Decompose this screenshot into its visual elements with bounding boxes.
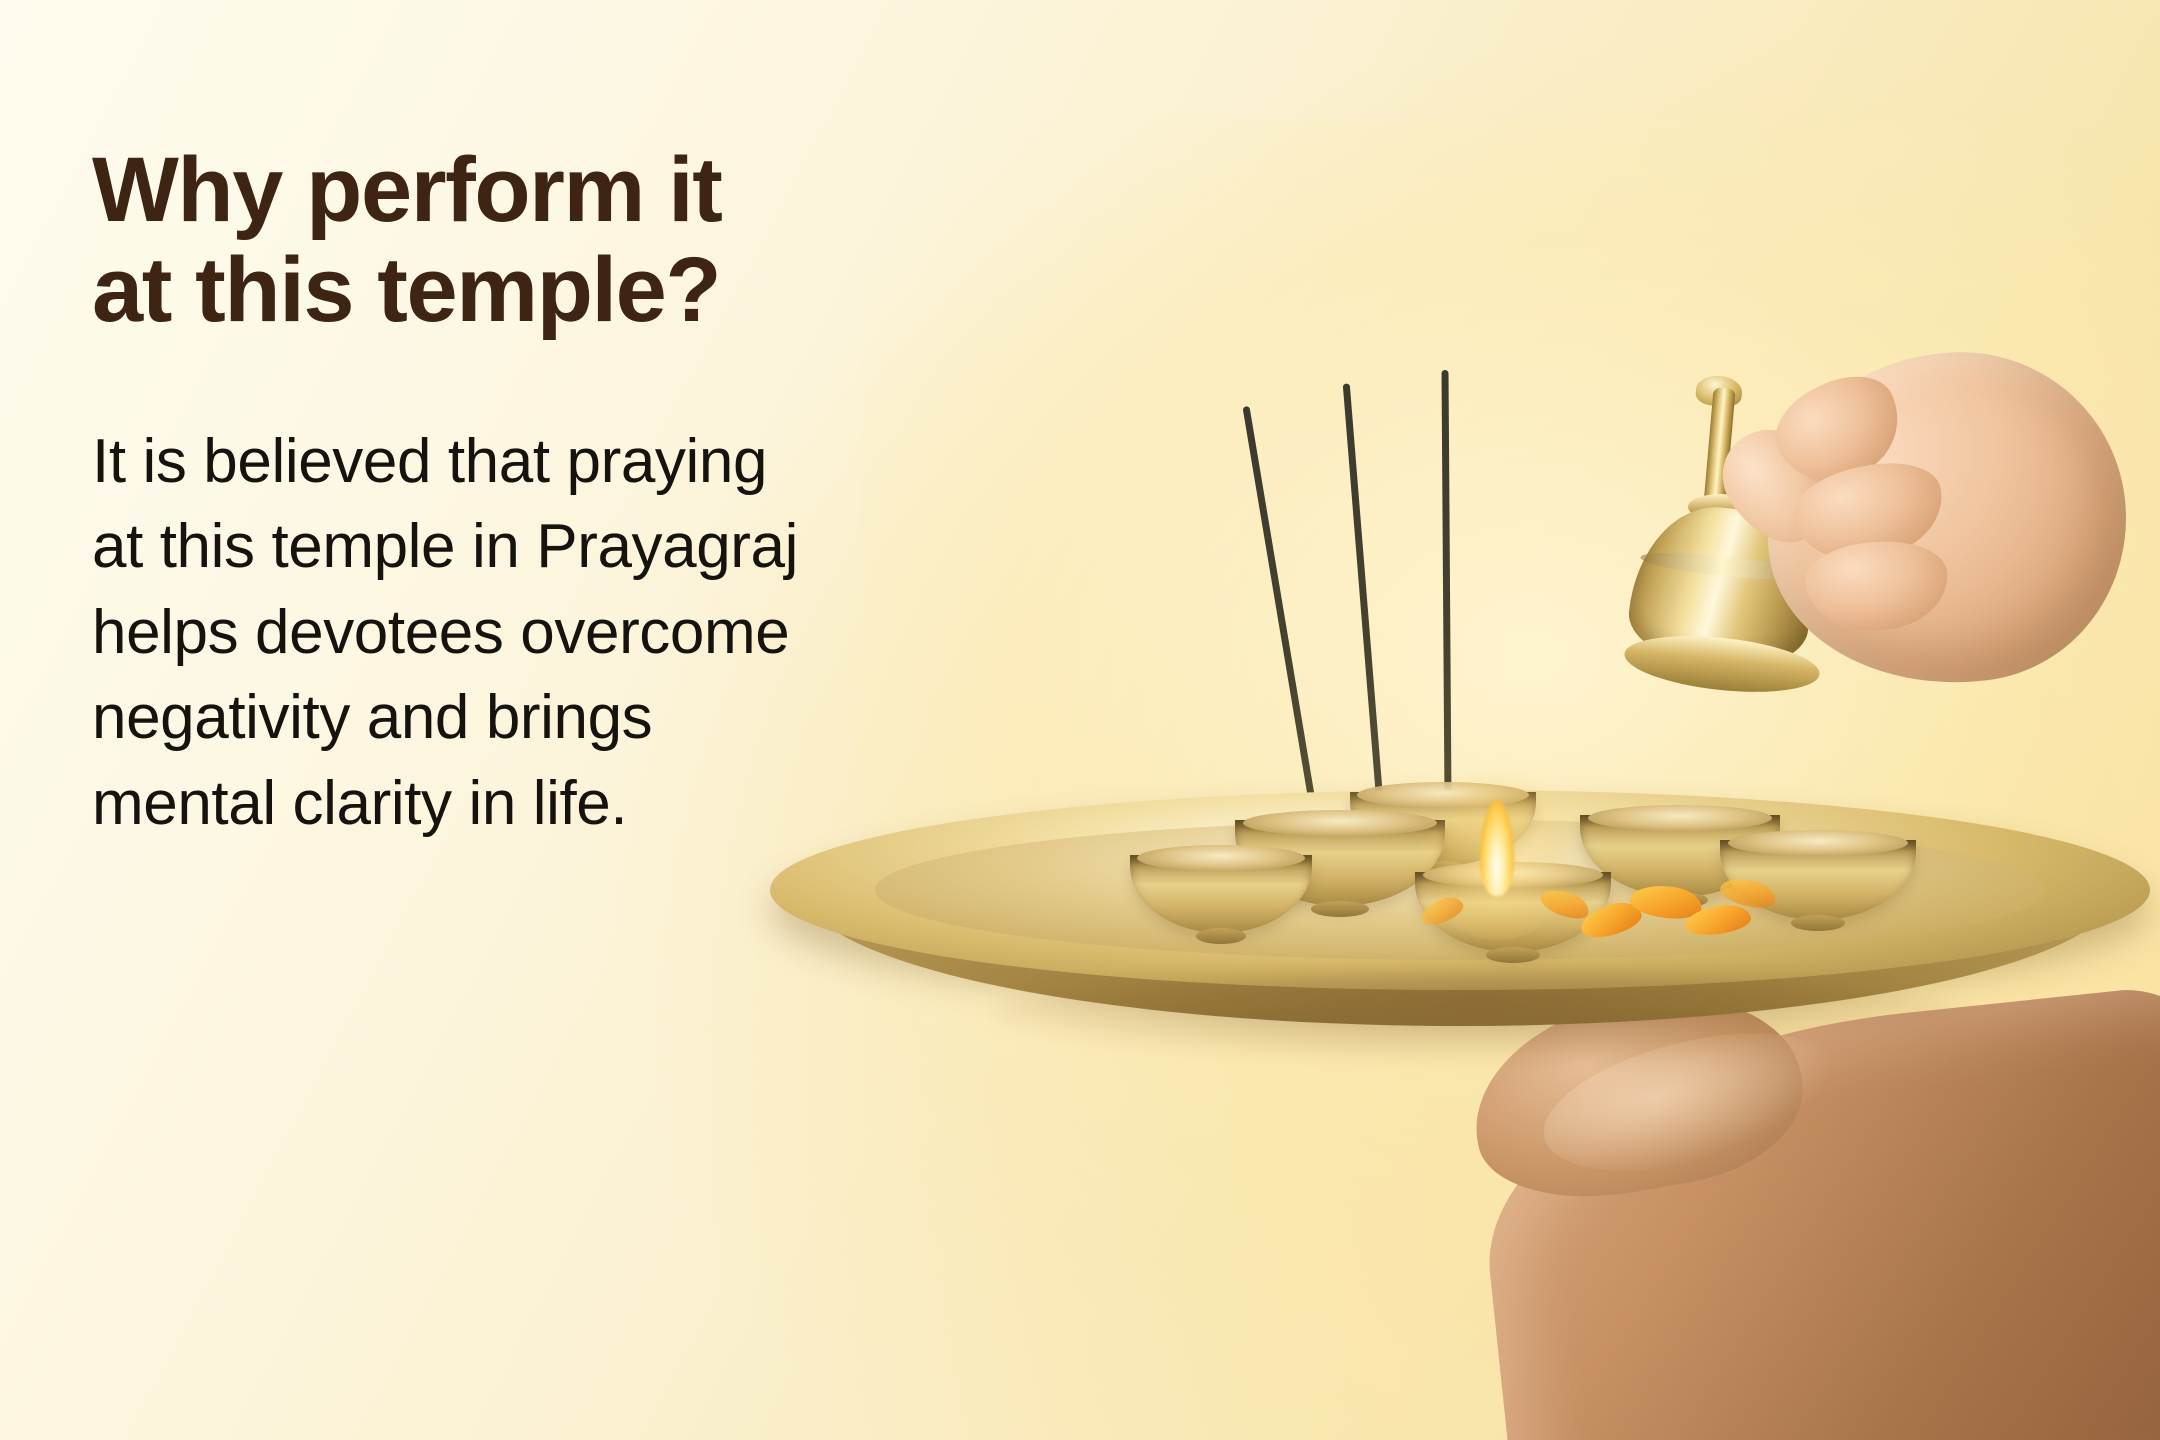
bell-and-hand-group — [1580, 370, 2100, 750]
text-column: Why perform it at this temple? It is bel… — [92, 140, 1092, 846]
thali-shadow — [990, 970, 1970, 1060]
puja-photo — [1020, 0, 2160, 1440]
slide-root: Why perform it at this temple? It is bel… — [0, 0, 2160, 1440]
page-title: Why perform it at this temple? — [92, 140, 1092, 341]
